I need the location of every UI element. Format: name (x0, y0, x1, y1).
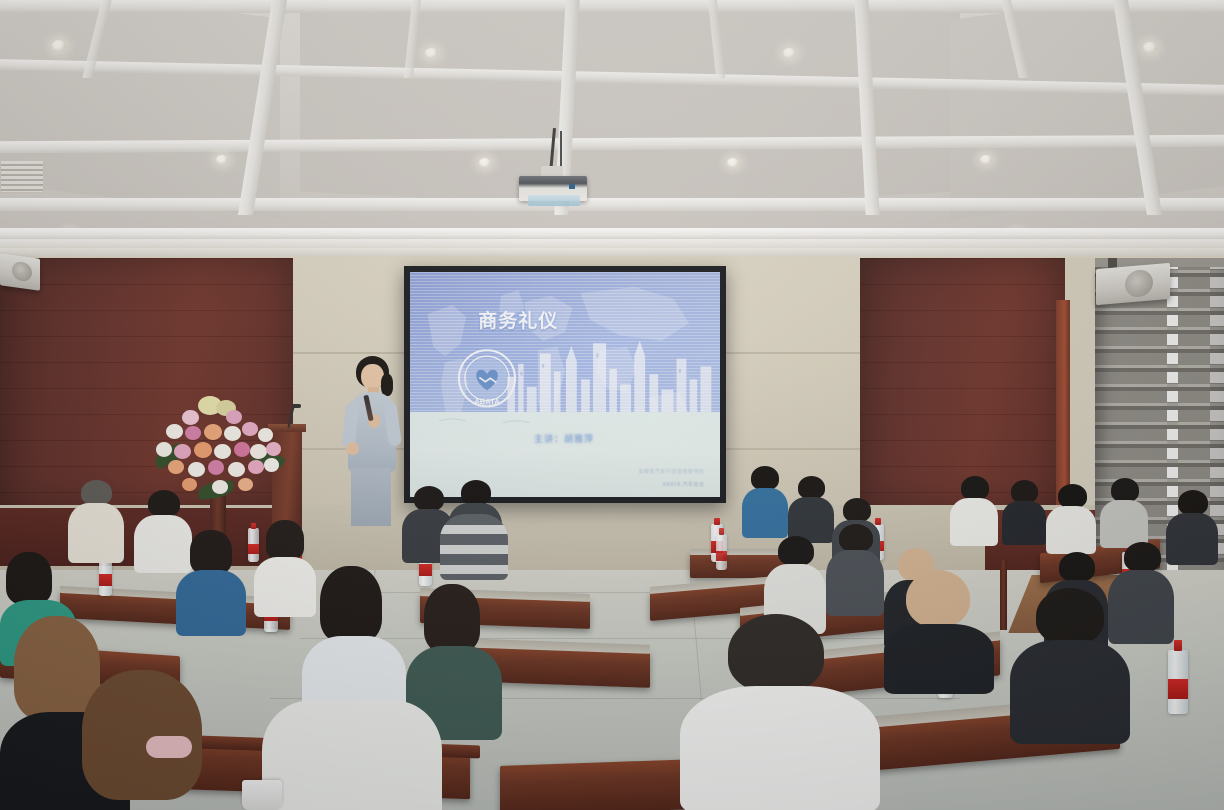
attendee (884, 570, 994, 690)
projection-screen: 商务礼仪 ABATA 主讲：胡雅萍 安徽省汽车行业协会秘书处 ABATA 汽车协… (404, 266, 726, 503)
air-vent-icon (0, 160, 44, 193)
ceiling-downlight (425, 48, 438, 58)
ceiling-downlight (980, 155, 992, 164)
slide-footer: 安徽省汽车行业协会秘书处 (638, 468, 704, 475)
attendee (440, 500, 508, 578)
projector-indicator (569, 184, 575, 189)
attendee (680, 614, 880, 810)
cornice-molding (0, 239, 1224, 248)
ceiling-downlight (52, 40, 66, 51)
cornice-molding (0, 228, 1224, 239)
wood-panel-edge (1056, 300, 1070, 512)
attendee (1002, 480, 1046, 542)
desk-leg (1000, 560, 1007, 630)
water-bottle (716, 534, 727, 570)
presenter (332, 356, 412, 538)
attendee (950, 476, 998, 542)
podium-microphone-head (292, 404, 301, 408)
attendee (742, 466, 788, 536)
attendee (62, 670, 232, 810)
projector-lens-icon (528, 195, 580, 206)
attendee (68, 480, 124, 560)
presenter-hair-back (381, 374, 393, 396)
water-bottle (1168, 650, 1188, 714)
ceiling-downlight (783, 48, 796, 58)
abata-logo-icon: ABATA (453, 346, 521, 414)
flower-arrangement (152, 396, 288, 500)
attendee (826, 524, 884, 612)
attendee (262, 700, 442, 810)
attendee (176, 530, 246, 630)
presenter-hand-left (346, 442, 359, 455)
ceiling-downlight (727, 158, 739, 167)
attendee (1010, 588, 1130, 738)
slide-footer-small: ABATA 汽车协会 (663, 481, 705, 488)
logo-text: ABATA (475, 397, 501, 406)
attendee (1100, 478, 1148, 546)
paper-cup (242, 780, 282, 810)
attendee (1046, 484, 1096, 552)
wood-wall-panel-right (860, 258, 1065, 510)
ceiling-downlight (216, 155, 228, 164)
ceiling-downlight (479, 158, 491, 167)
screen-surface: 商务礼仪 ABATA 主讲：胡雅萍 安徽省汽车行业协会秘书处 ABATA 汽车协… (410, 272, 720, 497)
presenter-skirt (351, 468, 391, 526)
hair-scrunchie (146, 736, 192, 758)
slide-title: 商务礼仪 (478, 306, 558, 333)
slide-subtitle: 主讲：胡雅萍 (534, 432, 594, 445)
ceiling-downlight (1143, 42, 1157, 53)
conference-room-photo: 商务礼仪 ABATA 主讲：胡雅萍 安徽省汽车行业协会秘书处 ABATA 汽车协… (0, 0, 1224, 810)
